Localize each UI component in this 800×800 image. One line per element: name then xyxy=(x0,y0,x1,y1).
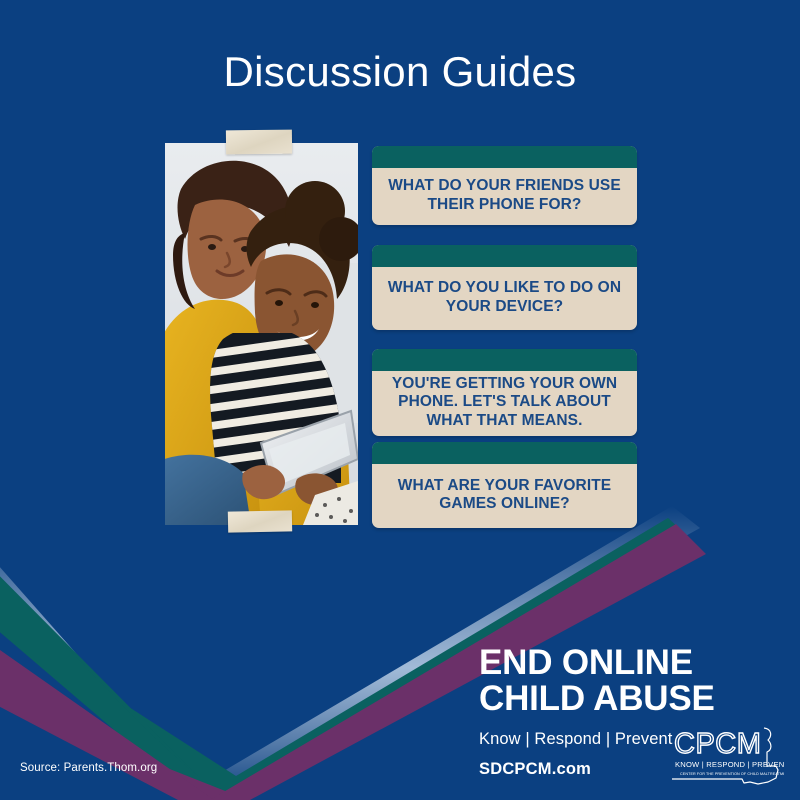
page-title: Discussion Guides xyxy=(0,49,800,95)
tape-strip-top xyxy=(226,130,292,155)
poster-canvas: Discussion Guides xyxy=(0,0,800,800)
discussion-card[interactable]: YOU'RE GETTING YOUR OWN PHONE. LET'S TAL… xyxy=(372,349,637,436)
photo-block xyxy=(165,143,358,525)
card-header-bar xyxy=(372,349,637,371)
discussion-card[interactable]: WHAT DO YOUR FRIENDS USE THEIR PHONE FOR… xyxy=(372,146,637,225)
card-question-text: WHAT DO YOUR FRIENDS USE THEIR PHONE FOR… xyxy=(372,168,637,225)
cpcm-logo[interactable]: CPCM KNOW | RESPOND | PREVENT CENTER FOR… xyxy=(672,726,784,790)
brand-headline: END ONLINE CHILD ABUSE xyxy=(479,645,789,716)
photo-mother-and-daughter xyxy=(165,143,358,525)
card-header-bar xyxy=(372,146,637,168)
brand-headline-line1: END ONLINE xyxy=(479,643,693,682)
card-question-text: WHAT DO YOU LIKE TO DO ON YOUR DEVICE? xyxy=(372,267,637,330)
brand-headline-line2: CHILD ABUSE xyxy=(479,681,789,717)
card-question-text: YOU'RE GETTING YOUR OWN PHONE. LET'S TAL… xyxy=(372,371,637,436)
source-credit: Source: Parents.Thom.org xyxy=(20,762,157,774)
svg-text:CENTER FOR THE PREVENTION OF C: CENTER FOR THE PREVENTION OF CHILD MALTR… xyxy=(680,772,784,776)
card-header-bar xyxy=(372,442,637,464)
svg-text:KNOW | RESPOND | PREVENT: KNOW | RESPOND | PREVENT xyxy=(675,760,784,769)
discussion-card[interactable]: WHAT DO YOU LIKE TO DO ON YOUR DEVICE? xyxy=(372,245,637,330)
card-header-bar xyxy=(372,245,637,267)
svg-text:CPCM: CPCM xyxy=(674,728,761,760)
